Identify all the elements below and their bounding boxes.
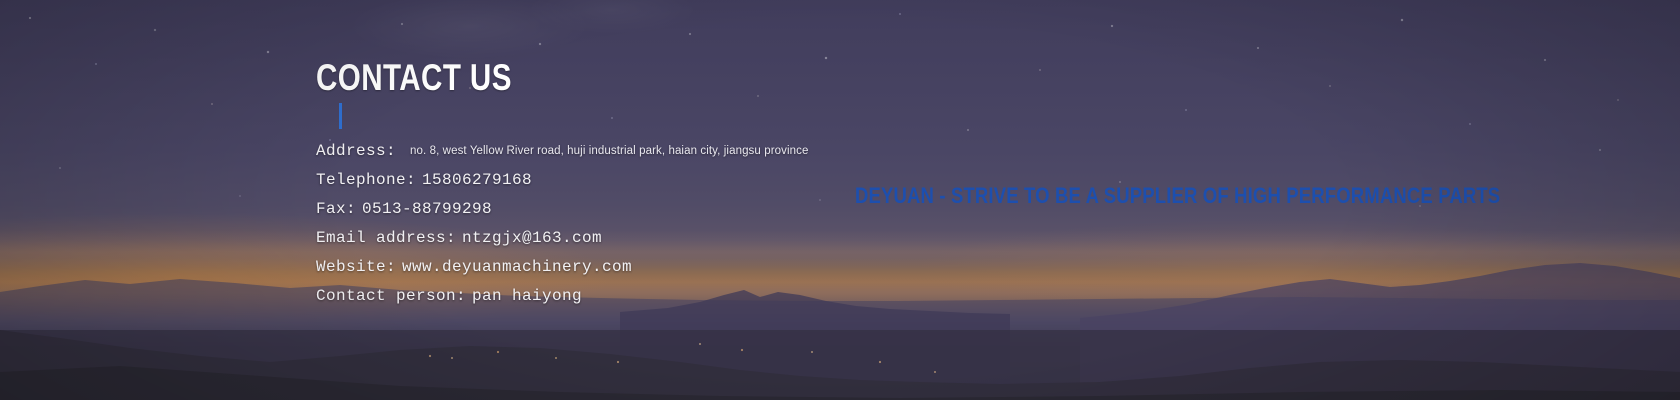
title-accent-bar	[339, 103, 342, 129]
page-title: CONTACT US	[316, 58, 512, 98]
contact-row-contact-person: Contact person: pan haiyong	[316, 287, 876, 316]
contact-label-telephone: Telephone:	[316, 171, 416, 189]
contact-banner: CONTACT US Address: no. 8, west Yellow R…	[0, 0, 1680, 400]
contact-label-email: Email address:	[316, 229, 456, 247]
contact-label-contact-person: Contact person:	[316, 287, 466, 305]
contact-value-fax: 0513-88799298	[362, 200, 492, 218]
contact-details-list: Address: no. 8, west Yellow River road, …	[316, 142, 876, 316]
company-tagline: DEYUAN - STRIVE TO BE A SUPPLIER OF HIGH…	[855, 183, 1500, 209]
contact-value-email[interactable]: ntzgjx@163.com	[462, 229, 602, 247]
contact-label-fax: Fax:	[316, 200, 356, 218]
contact-label-website: Website:	[316, 258, 396, 276]
contact-row-email: Email address: ntzgjx@163.com	[316, 229, 876, 258]
contact-value-contact-person: pan haiyong	[472, 287, 582, 305]
contact-label-address: Address:	[316, 142, 396, 160]
contact-value-address: no. 8, west Yellow River road, huji indu…	[410, 145, 808, 157]
contact-row-telephone: Telephone: 15806279168	[316, 171, 876, 200]
contact-value-website[interactable]: www.deyuanmachinery.com	[402, 258, 632, 276]
contact-row-address: Address: no. 8, west Yellow River road, …	[316, 142, 876, 171]
contact-value-telephone: 15806279168	[422, 171, 532, 189]
banner-content: CONTACT US Address: no. 8, west Yellow R…	[0, 0, 1680, 400]
contact-row-website: Website: www.deyuanmachinery.com	[316, 258, 876, 287]
contact-row-fax: Fax: 0513-88799298	[316, 200, 876, 229]
